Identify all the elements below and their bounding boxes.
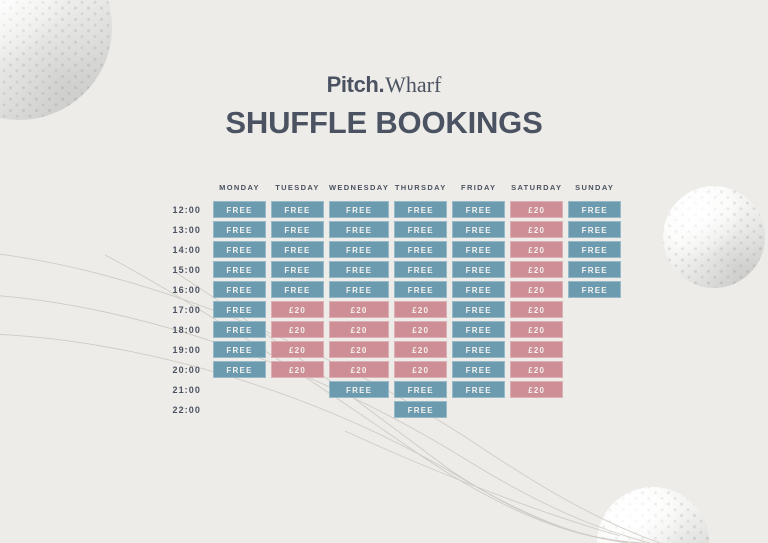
time-label: 15:00 xyxy=(157,261,208,278)
slot-paid-tuesday-19:00[interactable]: £20 xyxy=(271,341,324,358)
slot-paid-thursday-20:00[interactable]: £20 xyxy=(394,361,447,378)
slot-cell xyxy=(452,401,505,418)
slot-cell: £20 xyxy=(510,221,563,238)
slot-free-friday-18:00[interactable]: FREE xyxy=(452,321,505,338)
slot-cell: FREE xyxy=(394,241,447,258)
slot-free-wednesday-12:00[interactable]: FREE xyxy=(329,201,389,218)
slot-cell xyxy=(510,401,563,418)
slot-free-friday-16:00[interactable]: FREE xyxy=(452,281,505,298)
slot-paid-saturday-18:00[interactable]: £20 xyxy=(510,321,563,338)
slot-paid-wednesday-20:00[interactable]: £20 xyxy=(329,361,389,378)
slot-paid-saturday-21:00[interactable]: £20 xyxy=(510,381,563,398)
day-header-tuesday: TUESDAY xyxy=(271,183,324,198)
slot-empty-wednesday-22:00 xyxy=(329,401,389,418)
slot-free-wednesday-21:00[interactable]: FREE xyxy=(329,381,389,398)
slot-paid-wednesday-17:00[interactable]: £20 xyxy=(329,301,389,318)
table-row: 15:00FREEFREEFREEFREEFREE£20FREE xyxy=(157,261,621,278)
slot-paid-thursday-18:00[interactable]: £20 xyxy=(394,321,447,338)
slot-cell: FREE xyxy=(452,201,505,218)
slot-free-friday-14:00[interactable]: FREE xyxy=(452,241,505,258)
day-header-sunday: SUNDAY xyxy=(568,183,621,198)
bookings-table-body: 12:00FREEFREEFREEFREEFREE£20FREE13:00FRE… xyxy=(157,201,621,418)
brand-logo-primary: Pitch. xyxy=(327,72,385,97)
slot-cell: FREE xyxy=(452,241,505,258)
time-label: 19:00 xyxy=(157,341,208,358)
slot-cell: £20 xyxy=(510,261,563,278)
slot-empty-sunday-17:00 xyxy=(568,301,621,318)
slot-free-sunday-16:00[interactable]: FREE xyxy=(568,281,621,298)
slot-free-wednesday-15:00[interactable]: FREE xyxy=(329,261,389,278)
slot-cell: £20 xyxy=(394,321,447,338)
brand-logo-secondary: Wharf xyxy=(385,72,441,97)
slot-cell: FREE xyxy=(394,261,447,278)
slot-free-thursday-14:00[interactable]: FREE xyxy=(394,241,447,258)
slot-cell: FREE xyxy=(394,381,447,398)
slot-free-sunday-13:00[interactable]: FREE xyxy=(568,221,621,238)
day-header-saturday: SATURDAY xyxy=(510,183,563,198)
slot-paid-saturday-17:00[interactable]: £20 xyxy=(510,301,563,318)
bookings-table: MONDAY TUESDAY WEDNESDAY THURSDAY FRIDAY… xyxy=(152,180,626,421)
table-row: 19:00FREE£20£20£20FREE£20 xyxy=(157,341,621,358)
slot-free-sunday-15:00[interactable]: FREE xyxy=(568,261,621,278)
slot-free-monday-14:00[interactable]: FREE xyxy=(213,241,266,258)
time-label: 16:00 xyxy=(157,281,208,298)
table-row: 17:00FREE£20£20£20FREE£20 xyxy=(157,301,621,318)
slot-empty-sunday-21:00 xyxy=(568,381,621,398)
day-header-wednesday: WEDNESDAY xyxy=(329,183,389,198)
slot-cell: FREE xyxy=(329,281,389,298)
slot-paid-tuesday-17:00[interactable]: £20 xyxy=(271,301,324,318)
slot-cell: £20 xyxy=(510,361,563,378)
slot-cell: FREE xyxy=(452,341,505,358)
slot-paid-thursday-17:00[interactable]: £20 xyxy=(394,301,447,318)
slot-empty-tuesday-22:00 xyxy=(271,401,324,418)
slot-cell: £20 xyxy=(510,241,563,258)
slot-cell: £20 xyxy=(329,341,389,358)
day-header-thursday: THURSDAY xyxy=(394,183,447,198)
slot-cell: £20 xyxy=(510,281,563,298)
slot-cell xyxy=(271,401,324,418)
slot-paid-saturday-20:00[interactable]: £20 xyxy=(510,361,563,378)
slot-empty-monday-22:00 xyxy=(213,401,266,418)
slot-cell: £20 xyxy=(510,321,563,338)
slot-empty-tuesday-21:00 xyxy=(271,381,324,398)
slot-empty-sunday-20:00 xyxy=(568,361,621,378)
slot-cell: FREE xyxy=(213,301,266,318)
slot-cell: FREE xyxy=(568,261,621,278)
slot-free-thursday-15:00[interactable]: FREE xyxy=(394,261,447,278)
slot-free-sunday-12:00[interactable]: FREE xyxy=(568,201,621,218)
time-column-header xyxy=(157,183,208,198)
time-label: 21:00 xyxy=(157,381,208,398)
slot-free-friday-13:00[interactable]: FREE xyxy=(452,221,505,238)
time-label: 14:00 xyxy=(157,241,208,258)
slot-cell: FREE xyxy=(213,241,266,258)
slot-free-monday-18:00[interactable]: FREE xyxy=(213,321,266,338)
slot-cell xyxy=(568,341,621,358)
time-label: 20:00 xyxy=(157,361,208,378)
slot-cell: FREE xyxy=(452,381,505,398)
time-label: 12:00 xyxy=(157,201,208,218)
slot-free-monday-15:00[interactable]: FREE xyxy=(213,261,266,278)
slot-cell: FREE xyxy=(452,281,505,298)
slot-cell: FREE xyxy=(394,201,447,218)
table-row: 14:00FREEFREEFREEFREEFREE£20FREE xyxy=(157,241,621,258)
slot-cell: FREE xyxy=(213,221,266,238)
slot-cell: FREE xyxy=(568,241,621,258)
slot-cell: £20 xyxy=(510,201,563,218)
slot-paid-tuesday-18:00[interactable]: £20 xyxy=(271,321,324,338)
slot-paid-saturday-16:00[interactable]: £20 xyxy=(510,281,563,298)
slot-cell: FREE xyxy=(271,241,324,258)
time-label: 18:00 xyxy=(157,321,208,338)
slot-cell: FREE xyxy=(271,261,324,278)
page-title: SHUFFLE BOOKINGS xyxy=(0,106,768,140)
slot-cell: FREE xyxy=(394,221,447,238)
slot-free-monday-16:00[interactable]: FREE xyxy=(213,281,266,298)
slot-cell: £20 xyxy=(394,361,447,378)
slot-free-friday-15:00[interactable]: FREE xyxy=(452,261,505,278)
slot-free-monday-12:00[interactable]: FREE xyxy=(213,201,266,218)
slot-cell xyxy=(271,381,324,398)
slot-cell: FREE xyxy=(213,281,266,298)
slot-cell: FREE xyxy=(213,321,266,338)
slot-cell: FREE xyxy=(452,221,505,238)
slot-cell: £20 xyxy=(329,301,389,318)
slot-cell: £20 xyxy=(394,301,447,318)
table-row: 12:00FREEFREEFREEFREEFREE£20FREE xyxy=(157,201,621,218)
slot-cell: £20 xyxy=(271,341,324,358)
slot-cell: £20 xyxy=(271,361,324,378)
slot-cell: FREE xyxy=(452,261,505,278)
slot-cell: FREE xyxy=(452,321,505,338)
slot-free-thursday-16:00[interactable]: FREE xyxy=(394,281,447,298)
slot-paid-saturday-12:00[interactable]: £20 xyxy=(510,201,563,218)
slot-free-monday-13:00[interactable]: FREE xyxy=(213,221,266,238)
time-label: 17:00 xyxy=(157,301,208,318)
slot-paid-saturday-19:00[interactable]: £20 xyxy=(510,341,563,358)
slot-cell xyxy=(568,301,621,318)
slot-cell: FREE xyxy=(394,281,447,298)
slot-cell: FREE xyxy=(568,201,621,218)
slot-cell: £20 xyxy=(271,321,324,338)
slot-cell: FREE xyxy=(329,261,389,278)
day-header-monday: MONDAY xyxy=(213,183,266,198)
slot-paid-saturday-13:00[interactable]: £20 xyxy=(510,221,563,238)
slot-free-monday-20:00[interactable]: FREE xyxy=(213,361,266,378)
slot-free-tuesday-15:00[interactable]: FREE xyxy=(271,261,324,278)
slot-free-monday-19:00[interactable]: FREE xyxy=(213,341,266,358)
table-header-row: MONDAY TUESDAY WEDNESDAY THURSDAY FRIDAY… xyxy=(157,183,621,198)
slot-cell: £20 xyxy=(329,321,389,338)
slot-cell: £20 xyxy=(510,381,563,398)
slot-cell: FREE xyxy=(329,221,389,238)
slot-empty-sunday-22:00 xyxy=(568,401,621,418)
slot-cell: FREE xyxy=(213,361,266,378)
table-row: 21:00FREEFREEFREE£20 xyxy=(157,381,621,398)
slot-cell: FREE xyxy=(452,361,505,378)
slot-cell: FREE xyxy=(213,201,266,218)
slot-free-thursday-13:00[interactable]: FREE xyxy=(394,221,447,238)
slot-free-friday-19:00[interactable]: FREE xyxy=(452,341,505,358)
slot-free-tuesday-14:00[interactable]: FREE xyxy=(271,241,324,258)
slot-cell: £20 xyxy=(394,341,447,358)
slot-cell: FREE xyxy=(271,281,324,298)
slot-free-tuesday-16:00[interactable]: FREE xyxy=(271,281,324,298)
slot-cell xyxy=(568,381,621,398)
slot-empty-sunday-18:00 xyxy=(568,321,621,338)
slot-cell: £20 xyxy=(510,301,563,318)
poster-content: Pitch.Wharf SHUFFLE BOOKINGS MONDAY TUES… xyxy=(0,0,768,543)
slot-empty-saturday-22:00 xyxy=(510,401,563,418)
slot-cell xyxy=(329,401,389,418)
slot-empty-monday-21:00 xyxy=(213,381,266,398)
slot-cell: FREE xyxy=(213,341,266,358)
slot-free-friday-21:00[interactable]: FREE xyxy=(452,381,505,398)
slot-free-sunday-14:00[interactable]: FREE xyxy=(568,241,621,258)
slot-cell: FREE xyxy=(452,301,505,318)
slot-free-wednesday-16:00[interactable]: FREE xyxy=(329,281,389,298)
slot-free-tuesday-13:00[interactable]: FREE xyxy=(271,221,324,238)
slot-cell: FREE xyxy=(394,401,447,418)
slot-cell: FREE xyxy=(271,201,324,218)
slot-free-friday-12:00[interactable]: FREE xyxy=(452,201,505,218)
brand-logo: Pitch.Wharf xyxy=(0,74,768,96)
slot-cell xyxy=(568,321,621,338)
slot-free-thursday-21:00[interactable]: FREE xyxy=(394,381,447,398)
time-label: 22:00 xyxy=(157,401,208,418)
slot-empty-friday-22:00 xyxy=(452,401,505,418)
slot-cell: £20 xyxy=(329,361,389,378)
slot-cell: FREE xyxy=(329,201,389,218)
table-row: 13:00FREEFREEFREEFREEFREE£20FREE xyxy=(157,221,621,238)
slot-cell xyxy=(568,361,621,378)
slot-cell: FREE xyxy=(329,241,389,258)
slot-free-wednesday-14:00[interactable]: FREE xyxy=(329,241,389,258)
slot-free-tuesday-12:00[interactable]: FREE xyxy=(271,201,324,218)
slot-free-friday-20:00[interactable]: FREE xyxy=(452,361,505,378)
slot-paid-tuesday-20:00[interactable]: £20 xyxy=(271,361,324,378)
table-row: 20:00FREE£20£20£20FREE£20 xyxy=(157,361,621,378)
slot-cell: FREE xyxy=(213,261,266,278)
table-row: 22:00FREE xyxy=(157,401,621,418)
day-header-friday: FRIDAY xyxy=(452,183,505,198)
slot-cell: £20 xyxy=(510,341,563,358)
slot-cell xyxy=(568,401,621,418)
slot-cell: FREE xyxy=(329,381,389,398)
slot-paid-thursday-19:00[interactable]: £20 xyxy=(394,341,447,358)
slot-free-friday-17:00[interactable]: FREE xyxy=(452,301,505,318)
slot-paid-wednesday-19:00[interactable]: £20 xyxy=(329,341,389,358)
slot-cell xyxy=(213,381,266,398)
bookings-schedule: MONDAY TUESDAY WEDNESDAY THURSDAY FRIDAY… xyxy=(157,180,621,421)
slot-cell: FREE xyxy=(568,221,621,238)
slot-free-thursday-22:00[interactable]: FREE xyxy=(394,401,447,418)
slot-paid-saturday-15:00[interactable]: £20 xyxy=(510,261,563,278)
table-row: 18:00FREE£20£20£20FREE£20 xyxy=(157,321,621,338)
slot-paid-wednesday-18:00[interactable]: £20 xyxy=(329,321,389,338)
slot-cell xyxy=(213,401,266,418)
table-row: 16:00FREEFREEFREEFREEFREE£20FREE xyxy=(157,281,621,298)
slot-cell: £20 xyxy=(271,301,324,318)
slot-free-wednesday-13:00[interactable]: FREE xyxy=(329,221,389,238)
time-label: 13:00 xyxy=(157,221,208,238)
slot-cell: FREE xyxy=(271,221,324,238)
slot-free-thursday-12:00[interactable]: FREE xyxy=(394,201,447,218)
slot-cell: FREE xyxy=(568,281,621,298)
booking-poster: Pitch.Wharf SHUFFLE BOOKINGS MONDAY TUES… xyxy=(0,0,768,543)
slot-empty-sunday-19:00 xyxy=(568,341,621,358)
slot-paid-saturday-14:00[interactable]: £20 xyxy=(510,241,563,258)
slot-free-monday-17:00[interactable]: FREE xyxy=(213,301,266,318)
